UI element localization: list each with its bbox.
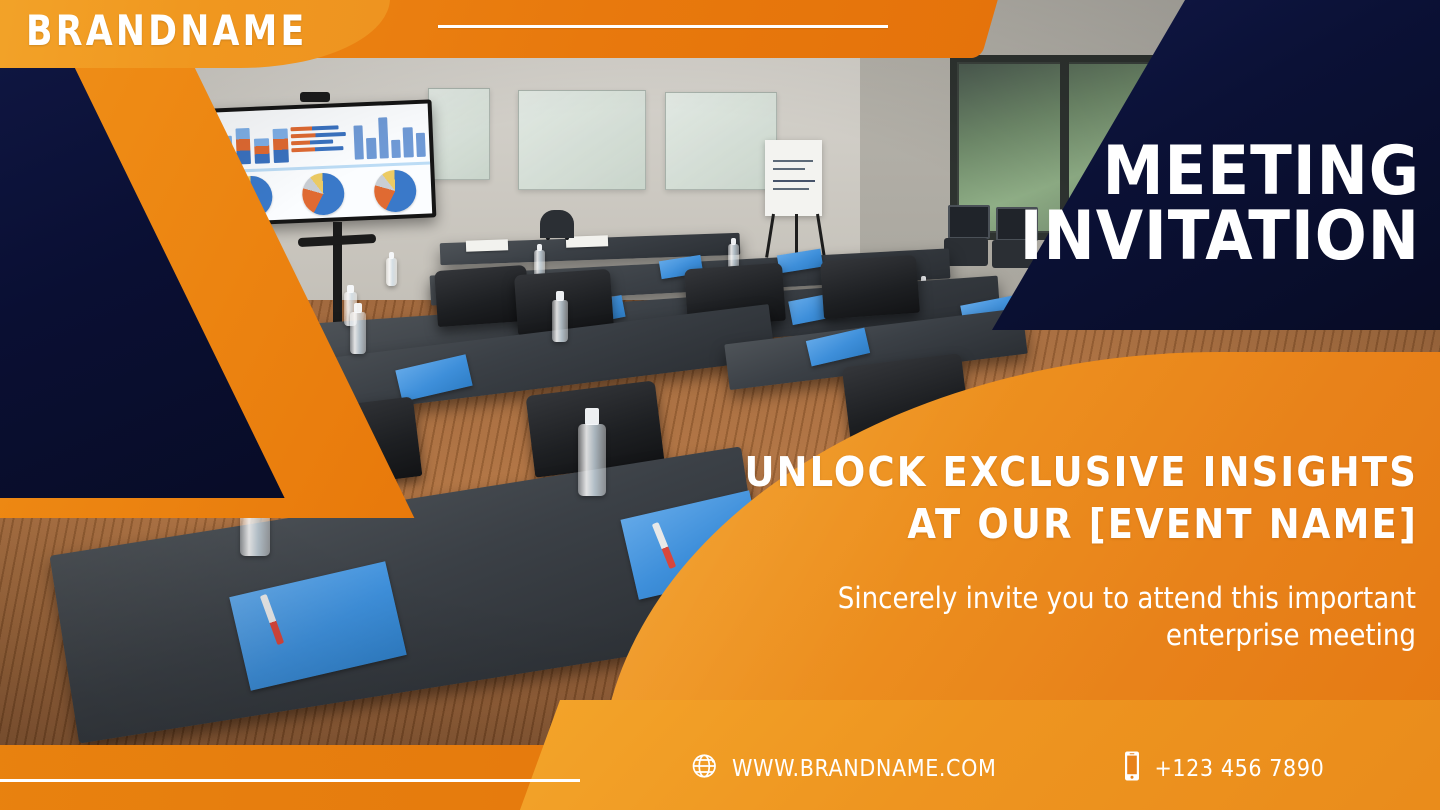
phone-icon (1122, 750, 1142, 787)
website-contact[interactable]: WWW.BRANDNAME.COM (690, 751, 996, 786)
title-line-2: INVITATION (1020, 205, 1420, 270)
contact-bar: WWW.BRANDNAME.COM +123 456 7890 (690, 750, 1324, 787)
globe-icon (690, 751, 720, 786)
footer-rule (0, 779, 580, 782)
phone-text: +123 456 7890 (1154, 756, 1324, 782)
invitation-body-text: Sincerely invite you to attend this impo… (756, 580, 1416, 653)
page-title: MEETING INVITATION (1020, 140, 1420, 269)
meeting-invitation-poster: BRANDNAME MEETING INVITATION UNLOCK EXCL… (0, 0, 1440, 810)
headline: UNLOCK EXCLUSIVE INSIGHTS AT OUR [EVENT … (744, 446, 1418, 551)
phone-contact[interactable]: +123 456 7890 (1122, 750, 1324, 787)
title-line-1: MEETING (1020, 140, 1420, 205)
brand-logo-text: BRANDNAME (26, 10, 307, 52)
body-line-2: enterprise meeting (756, 617, 1416, 654)
header-rule (438, 25, 888, 28)
body-line-1: Sincerely invite you to attend this impo… (756, 580, 1416, 617)
website-text: WWW.BRANDNAME.COM (732, 756, 996, 782)
headline-line-1: UNLOCK EXCLUSIVE INSIGHTS (744, 446, 1418, 498)
headline-line-2: AT OUR [EVENT NAME] (744, 498, 1418, 550)
